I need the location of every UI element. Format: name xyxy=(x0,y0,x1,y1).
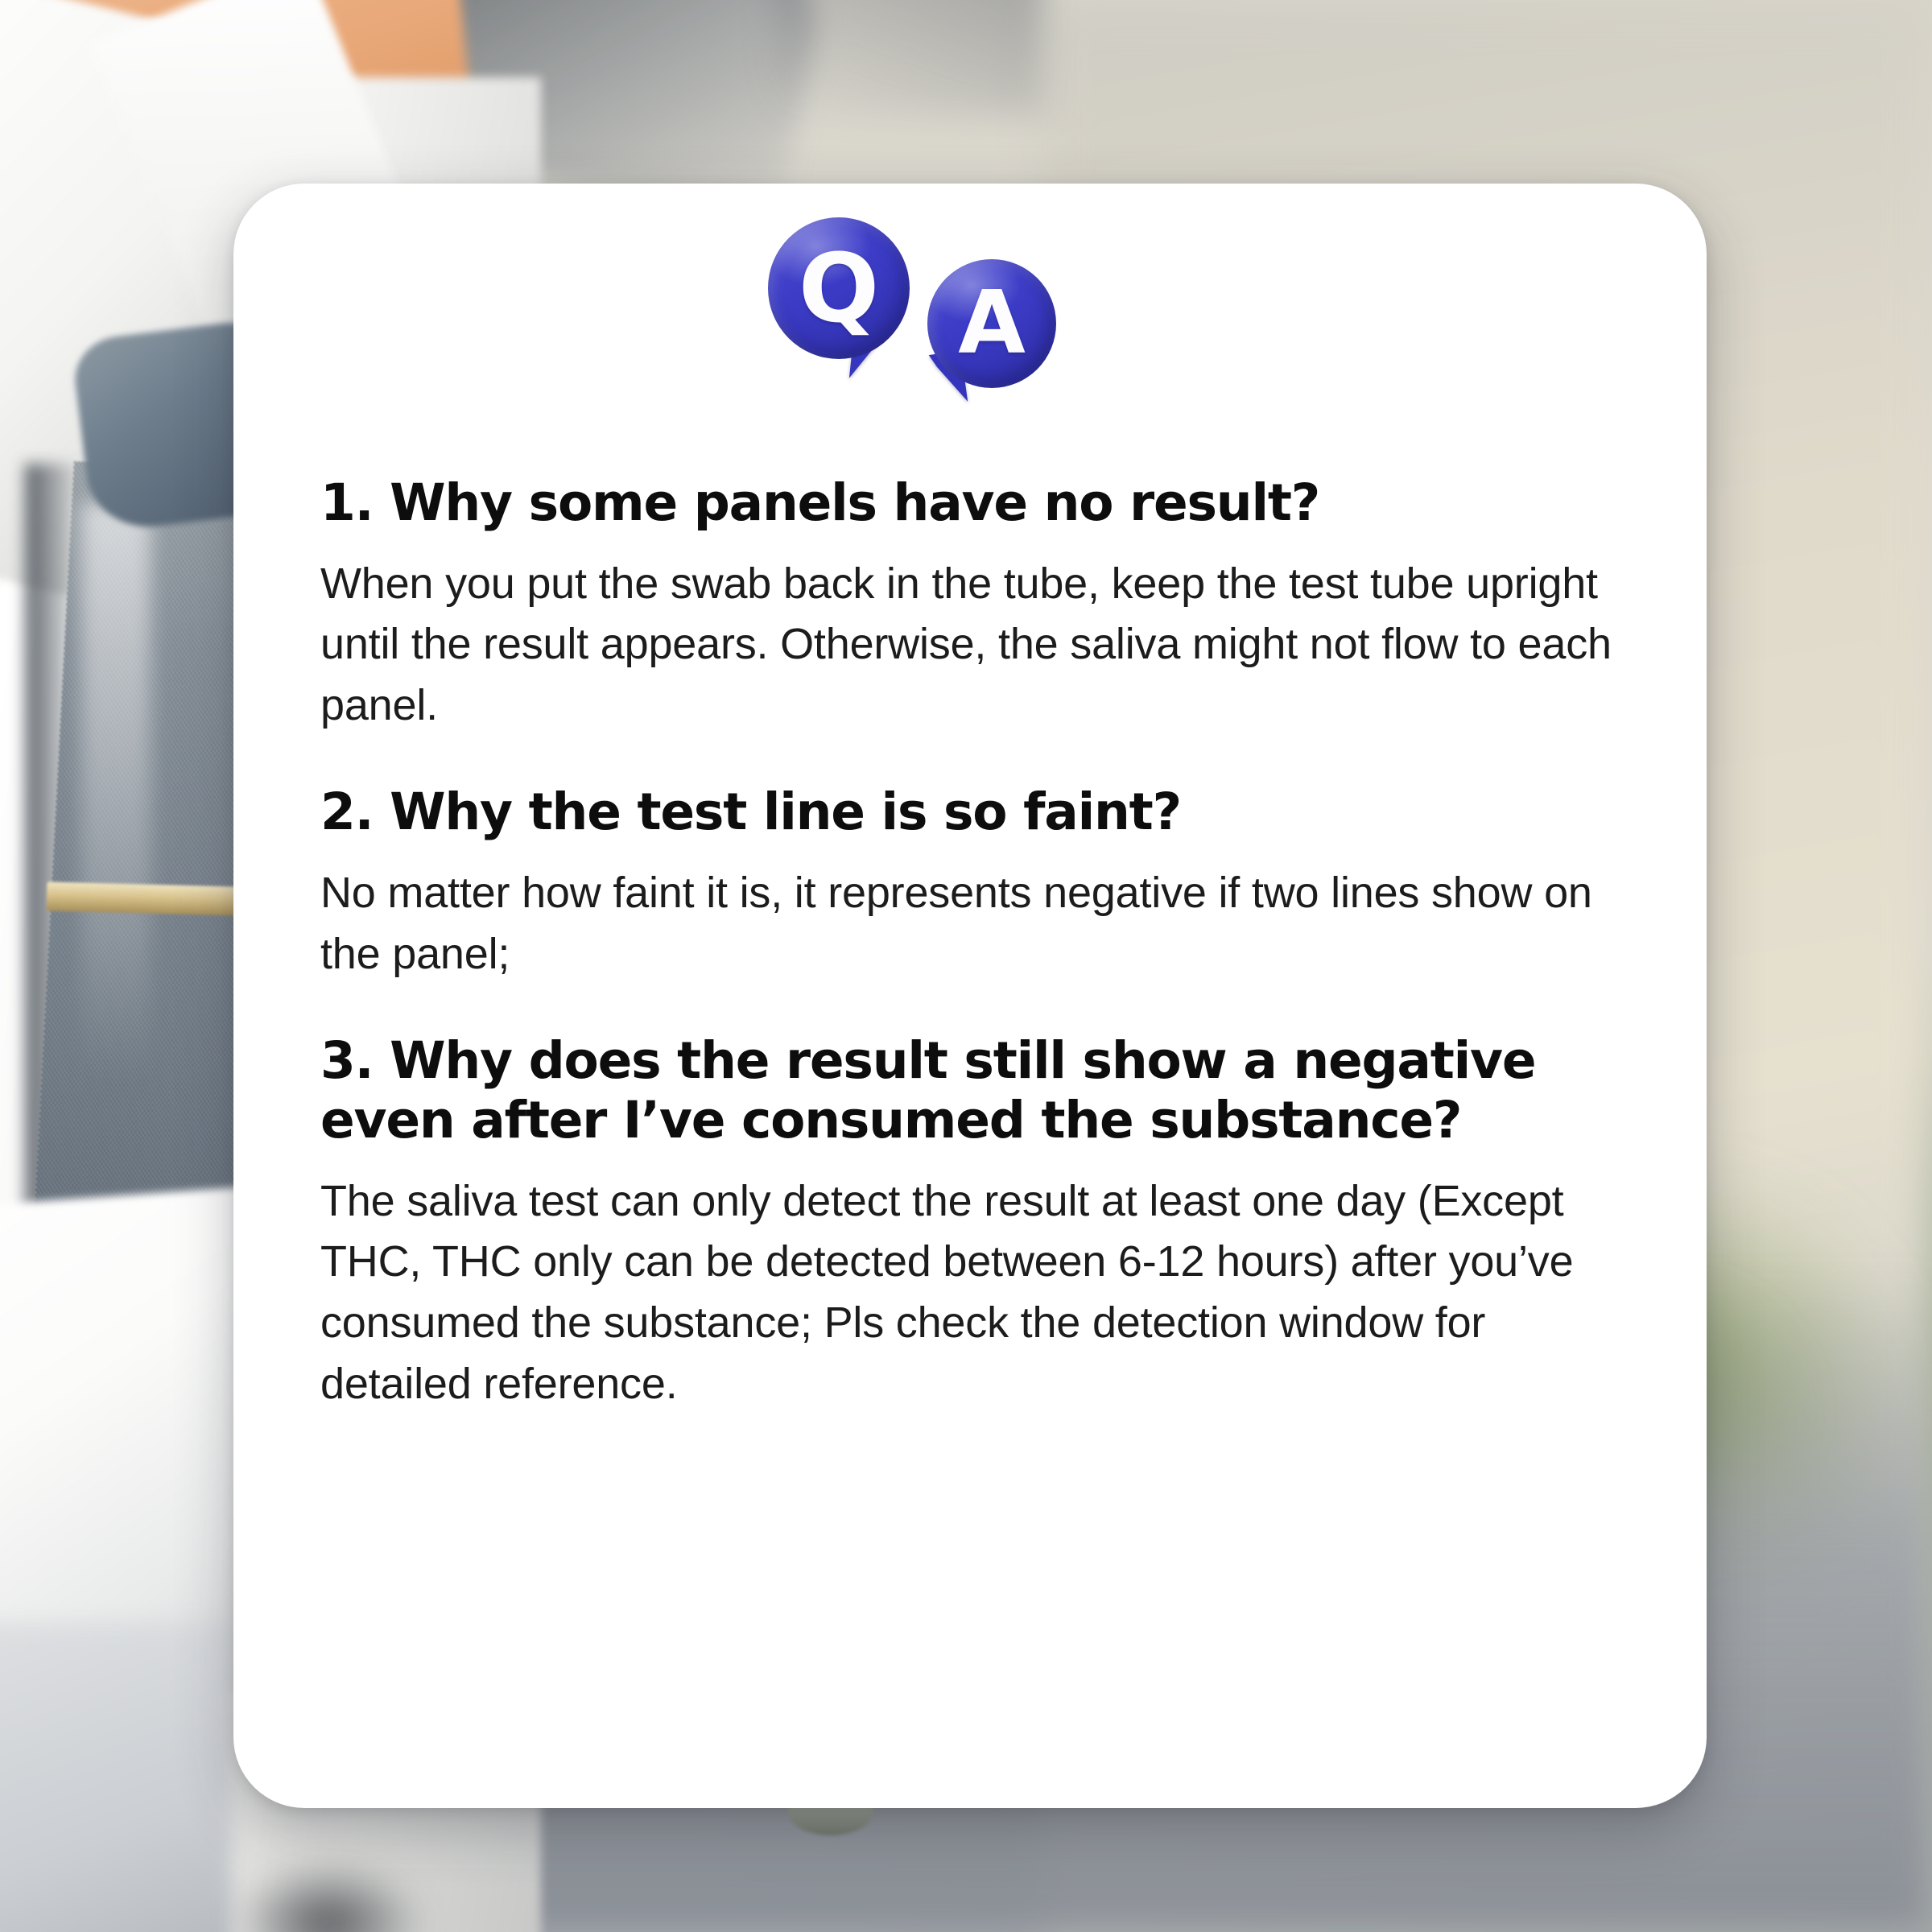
faq-content: 1. Why some panels have no result? When … xyxy=(233,473,1707,1414)
faq-item: 3. Why does the result still show a nega… xyxy=(320,1031,1618,1414)
faq-item: 2. Why the test line is so faint? No mat… xyxy=(320,782,1618,985)
faq-card: Q A 1. Why some panels have no result? W… xyxy=(233,184,1707,1808)
faq-answer-text: The saliva test can only detect the resu… xyxy=(320,1171,1618,1414)
foreground-shadow xyxy=(193,1835,464,1932)
question-bubble-letter: Q xyxy=(768,217,910,359)
faq-question-heading: 2. Why the test line is so faint? xyxy=(320,782,1618,842)
question-bubble-icon: Q xyxy=(768,217,910,359)
faq-question-heading: 3. Why does the result still show a nega… xyxy=(320,1031,1618,1150)
faq-answer-text: When you put the swab back in the tube, … xyxy=(320,554,1618,737)
faq-item: 1. Why some panels have no result? When … xyxy=(320,473,1618,736)
faq-question-heading: 1. Why some panels have no result? xyxy=(320,473,1618,533)
answer-bubble-letter: A xyxy=(927,259,1056,388)
stethoscope-blur-2 xyxy=(773,0,1043,116)
answer-bubble-icon: A xyxy=(927,259,1056,388)
necktie-highlight xyxy=(81,502,151,1082)
qa-icon-group: Q A xyxy=(233,209,1707,451)
faq-answer-text: No matter how faint it is, it represents… xyxy=(320,863,1618,985)
